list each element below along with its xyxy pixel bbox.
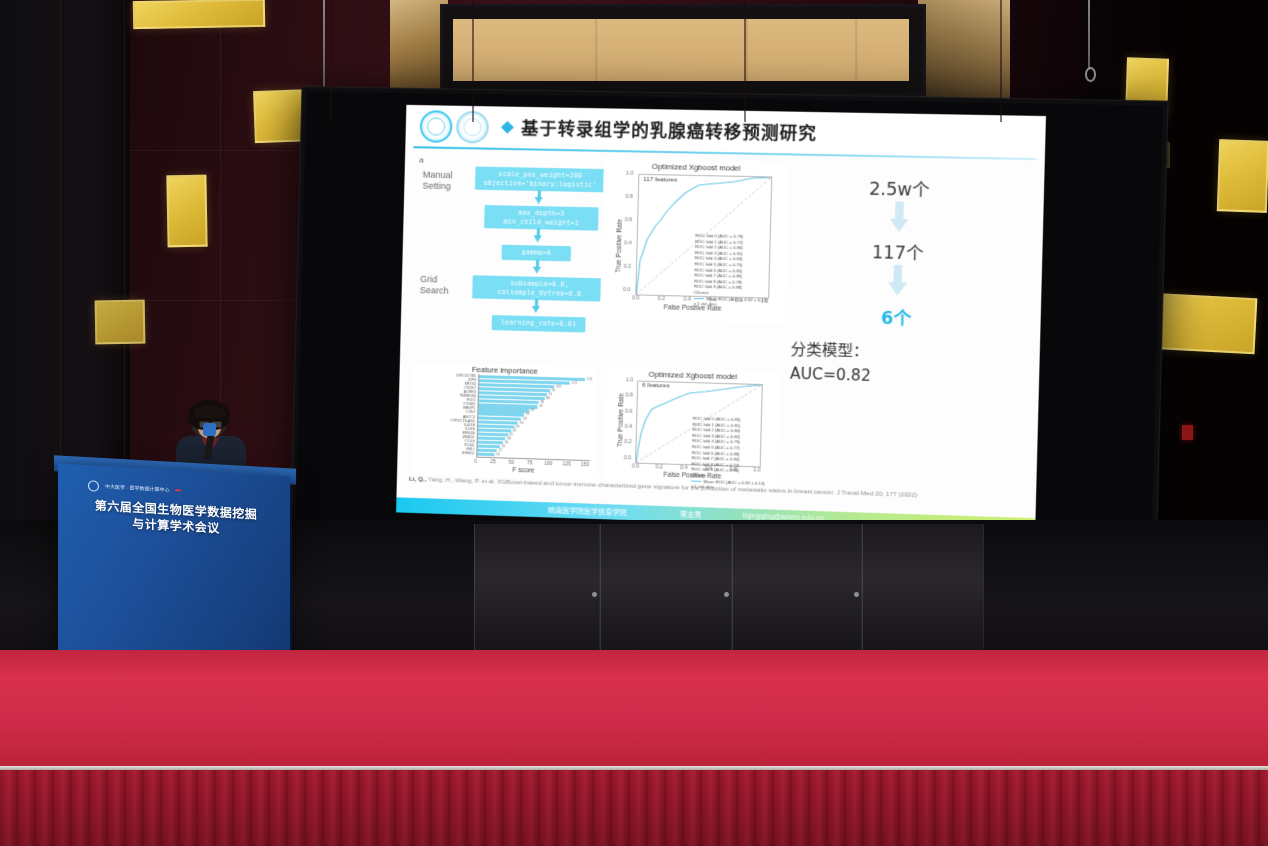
roc-d-ytick: 0.8	[625, 392, 632, 398]
stage-skirt-shading	[0, 770, 1268, 846]
funnel-step-2: 117个	[770, 236, 1027, 267]
roc-b-xtick: 0.6	[709, 297, 716, 303]
fi-xtick: 0	[474, 459, 477, 465]
floor-seam	[330, 0, 332, 122]
chain-hook-right	[1085, 67, 1096, 82]
roc-b-xlabel: False Positive Rate	[664, 304, 722, 313]
podium-badge	[175, 489, 181, 491]
roc-b-legend: ROC fold 0 (AUC = 0.79) ROC fold 1 (AUC …	[694, 233, 770, 309]
floor-seam	[1000, 0, 1002, 122]
roc-d-ytick: 0.2	[624, 439, 631, 445]
fi-xtick: 50	[508, 460, 514, 466]
roc-chart-6-features: Optimized Xgboost model 6 features ROC f…	[604, 368, 780, 487]
beam-panel	[453, 19, 909, 81]
roc-b-ytick: 0.2	[624, 264, 631, 270]
fi-xtick: 100	[544, 461, 553, 467]
speaker-fringe	[194, 406, 225, 418]
flow-arrow-icon	[534, 197, 542, 204]
fi-value-label: 100	[555, 384, 561, 388]
fi-value-label: 121	[571, 381, 577, 385]
fi-xtick: 125	[562, 461, 571, 467]
roc-d-xtick: 0.6	[705, 466, 712, 472]
roc-d-xtick: 0.2	[655, 464, 662, 470]
roc-d-ytick: 0.0	[624, 455, 631, 461]
flow-box-3: subsample=0.8, colsample_bytree=0.8	[472, 275, 607, 301]
gold-panel	[166, 175, 207, 248]
funnel-step-1: 2.5w个	[772, 172, 1029, 203]
roc-d-xtick: 0.0	[632, 463, 639, 469]
fi-xlabel: F score	[512, 467, 534, 475]
roc-b-xtick: 0.8	[735, 298, 742, 304]
roc-d-xlabel: False Positive Rate	[663, 472, 721, 481]
flow-box-4: learning_rate=0.01	[492, 315, 586, 332]
roc-d-ytick: 1.0	[626, 377, 633, 383]
door-knob-icon[interactable]	[854, 592, 859, 597]
podium-title-line2: 与计算学术会议	[132, 517, 220, 536]
roc-d-annotation: 6 features	[642, 383, 670, 390]
roc-b-annotation: 117 features	[643, 177, 677, 184]
roc-b-xtick: 0.2	[658, 296, 665, 302]
roc-d-xtick: 0.4	[680, 465, 687, 471]
podium-org-text: 中大医学 · 医学数据计算中心	[105, 483, 169, 494]
podium-conference-title: 第六届全国生物医学数据挖掘 与计算学术会议	[72, 496, 280, 540]
fi-value-label: 54	[519, 420, 523, 424]
roc-d-legend: ROC fold 0 (AUC = 0.85) ROC fold 1 (AUC …	[691, 416, 767, 492]
header-rule	[413, 146, 1036, 160]
door-knob-icon[interactable]	[592, 592, 597, 597]
funnel-step-3: 6个	[768, 301, 1025, 333]
grid-search-label: GridSearch	[420, 274, 449, 297]
bullet-diamond-icon	[501, 121, 514, 134]
flow-arrow-icon	[533, 267, 541, 274]
roc-b-xtick: 0.0	[632, 295, 639, 301]
roc-b-xtick: 1.0	[761, 298, 768, 304]
screen-chain-left	[323, 0, 325, 96]
roc-d-plot-area: 6 features ROC fold 0 (AUC = 0.85) ROC f…	[635, 381, 763, 468]
roc-b-plot-area: 117 features ROC fold 0 (AUC = 0.79) ROC…	[635, 174, 772, 299]
flow-box-2: gamma=0	[502, 245, 572, 261]
flow-box-1: max_depth=3 min_child_weight=1	[484, 205, 599, 231]
flow-arrow-icon	[533, 235, 541, 242]
roc-b-ytick: 1.0	[626, 171, 633, 177]
screen-chain-right	[1088, 0, 1090, 70]
citation-authors: Li, Q.,	[409, 476, 427, 484]
gold-panel	[95, 300, 146, 345]
roc-d-ylabel: True Positive Rate	[617, 393, 626, 447]
conference-stage-scene: 基于转录组学的乳腺癌转移预测研究 a ManualSetting GridSea…	[0, 0, 1268, 846]
fi-value-label: 79	[539, 404, 543, 408]
podium-university-logo-icon	[88, 480, 99, 492]
fi-value-label: 141	[587, 377, 593, 381]
roc-b-ytick: 0.6	[625, 217, 632, 223]
projection-screen[interactable]: 基于转录组学的乳腺癌转移预测研究 a ManualSetting GridSea…	[290, 86, 1168, 554]
fi-xtick: 150	[581, 462, 590, 468]
roc-b-ytick: 0.0	[623, 287, 630, 293]
manual-setting-label: ManualSetting	[422, 169, 452, 192]
presentation-slide: 基于转录组学的乳腺癌转移预测研究 a ManualSetting GridSea…	[396, 105, 1046, 534]
flow-box-0: scale_pos_weight=200 objective='binary:l…	[475, 167, 606, 193]
gene-funnel-summary: 2.5w个 117个 6个 分类模型： AUC=0.82	[772, 172, 1028, 177]
floor-seam	[744, 0, 746, 122]
flow-arrow-icon	[532, 306, 540, 313]
classifier-label: 分类模型：	[768, 337, 1025, 365]
fi-value-label: 24	[496, 452, 500, 456]
door-knob-icon[interactable]	[724, 592, 729, 597]
stage-door-center-left[interactable]	[600, 524, 732, 660]
exit-sign	[1182, 425, 1193, 440]
floor-seam	[472, 0, 474, 122]
fi-value-label: 68	[530, 408, 534, 412]
gold-panel	[133, 0, 265, 29]
footer-organization: 皖南医学院医学信息学院	[548, 505, 627, 518]
feature-importance-chart: Feature importance LINC01781141ZIP3121KR…	[411, 362, 596, 480]
roc-d-ytick: 0.6	[625, 409, 632, 415]
ceiling-beam	[440, 4, 926, 96]
stage-door-center-right[interactable]	[732, 524, 862, 660]
slide-title: 基于转录组学的乳腺癌转移预测研究	[521, 114, 817, 145]
microphone-head	[203, 423, 216, 436]
roc-d-ytick: 0.4	[625, 424, 632, 430]
stage-door-left[interactable]	[474, 524, 600, 660]
roc-d-xtick: 1.0	[753, 467, 760, 473]
stage-door-right[interactable]	[862, 524, 984, 660]
stage-floor	[0, 650, 1268, 772]
roc-b-ylabel: True Positive Rate	[615, 219, 624, 273]
roc-d-xtick: 0.8	[730, 467, 737, 473]
roc-b-ytick: 0.8	[625, 194, 632, 200]
university-logo-icon	[420, 110, 453, 143]
footer-presenter-name: 蔡志青	[680, 509, 702, 520]
gold-panel	[1217, 139, 1268, 213]
fi-xtick: 25	[490, 459, 496, 465]
fi-category-label: EPHX2	[412, 450, 475, 456]
roc-b-xtick: 0.4	[683, 297, 690, 303]
roc-b-ytick: 0.4	[624, 240, 631, 246]
auc-value: AUC=0.82	[767, 364, 1024, 389]
funnel-arrow-icon	[887, 265, 907, 296]
wall-mural-right	[918, 0, 1010, 100]
fi-xtick: 75	[527, 460, 533, 466]
fi-value-label: 88	[546, 396, 550, 400]
roc-chart-117-features: Optimized Xgboost model 117 features ROC…	[600, 159, 789, 324]
funnel-arrow-icon	[889, 201, 909, 232]
